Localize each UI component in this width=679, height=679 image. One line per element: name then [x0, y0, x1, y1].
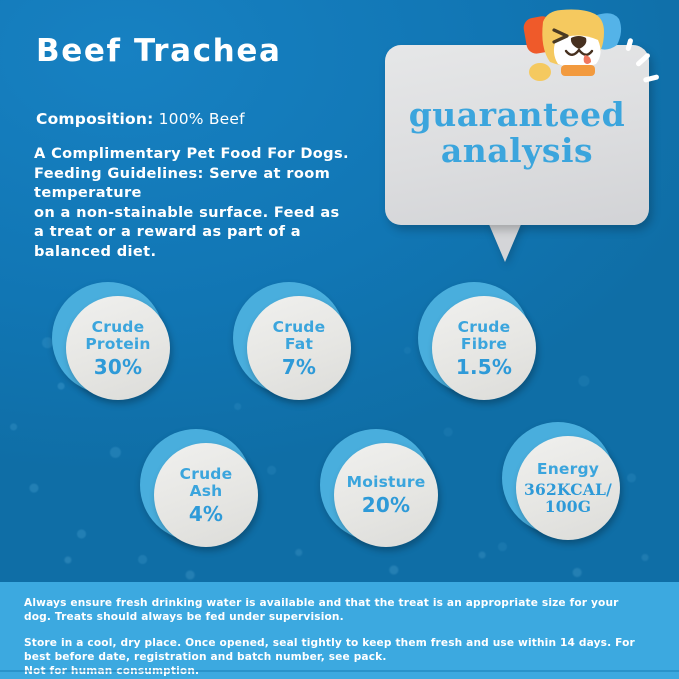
callout-heading: guaranteed analysis [385, 97, 649, 169]
footer-divider [0, 670, 679, 672]
analysis-badge-crude-ash: CrudeAsh 4% [150, 439, 258, 547]
badge-name: Energy [533, 461, 603, 479]
callout-tail [488, 222, 522, 262]
badge-disc: CrudeFat 7% [247, 296, 351, 400]
composition-value: 100% Beef [153, 110, 244, 128]
dog-mascot-icon [523, 8, 679, 88]
composition-label: Composition: [36, 110, 153, 128]
callout-heading-line2: analysis [385, 133, 649, 169]
badge-name: CrudeAsh [176, 466, 237, 501]
badge-name: CrudeFibre [454, 319, 515, 354]
badge-value: 362KCAL/100G [524, 481, 612, 515]
analysis-badge-crude-protein: CrudeProtein 30% [62, 292, 170, 400]
analysis-badge-moisture: Moisture 20% [330, 439, 438, 547]
feeding-guidelines-text: A Complimentary Pet Food For Dogs. Feedi… [34, 144, 354, 261]
badge-disc: CrudeAsh 4% [154, 443, 258, 547]
badge-disc: CrudeFibre 1.5% [432, 296, 536, 400]
badge-name: CrudeFat [269, 319, 330, 354]
badge-name: CrudeProtein [81, 319, 154, 354]
badge-value: 30% [94, 357, 142, 378]
composition-line: Composition: 100% Beef [36, 110, 245, 128]
product-label-artwork: Beef Trachea Composition: 100% Beef A Co… [0, 0, 679, 679]
analysis-badge-crude-fibre: CrudeFibre 1.5% [428, 292, 536, 400]
badge-disc: Moisture 20% [334, 443, 438, 547]
badge-value: 7% [282, 357, 316, 378]
analysis-badge-energy: Energy 362KCAL/100G [512, 432, 620, 540]
footer-paragraph-water-supervision: Always ensure fresh drinking water is av… [24, 596, 624, 624]
badge-value: 1.5% [456, 357, 512, 378]
badge-name: Moisture [343, 474, 430, 492]
badge-disc: CrudeProtein 30% [66, 296, 170, 400]
page-title: Beef Trachea [36, 33, 282, 69]
footer-band: Always ensure fresh drinking water is av… [0, 582, 679, 679]
badge-value: 20% [362, 495, 410, 516]
callout-heading-line1: guaranteed [385, 97, 649, 133]
badge-disc: Energy 362KCAL/100G [516, 436, 620, 540]
analysis-badge-crude-fat: CrudeFat 7% [243, 292, 351, 400]
badge-value: 4% [189, 504, 223, 525]
